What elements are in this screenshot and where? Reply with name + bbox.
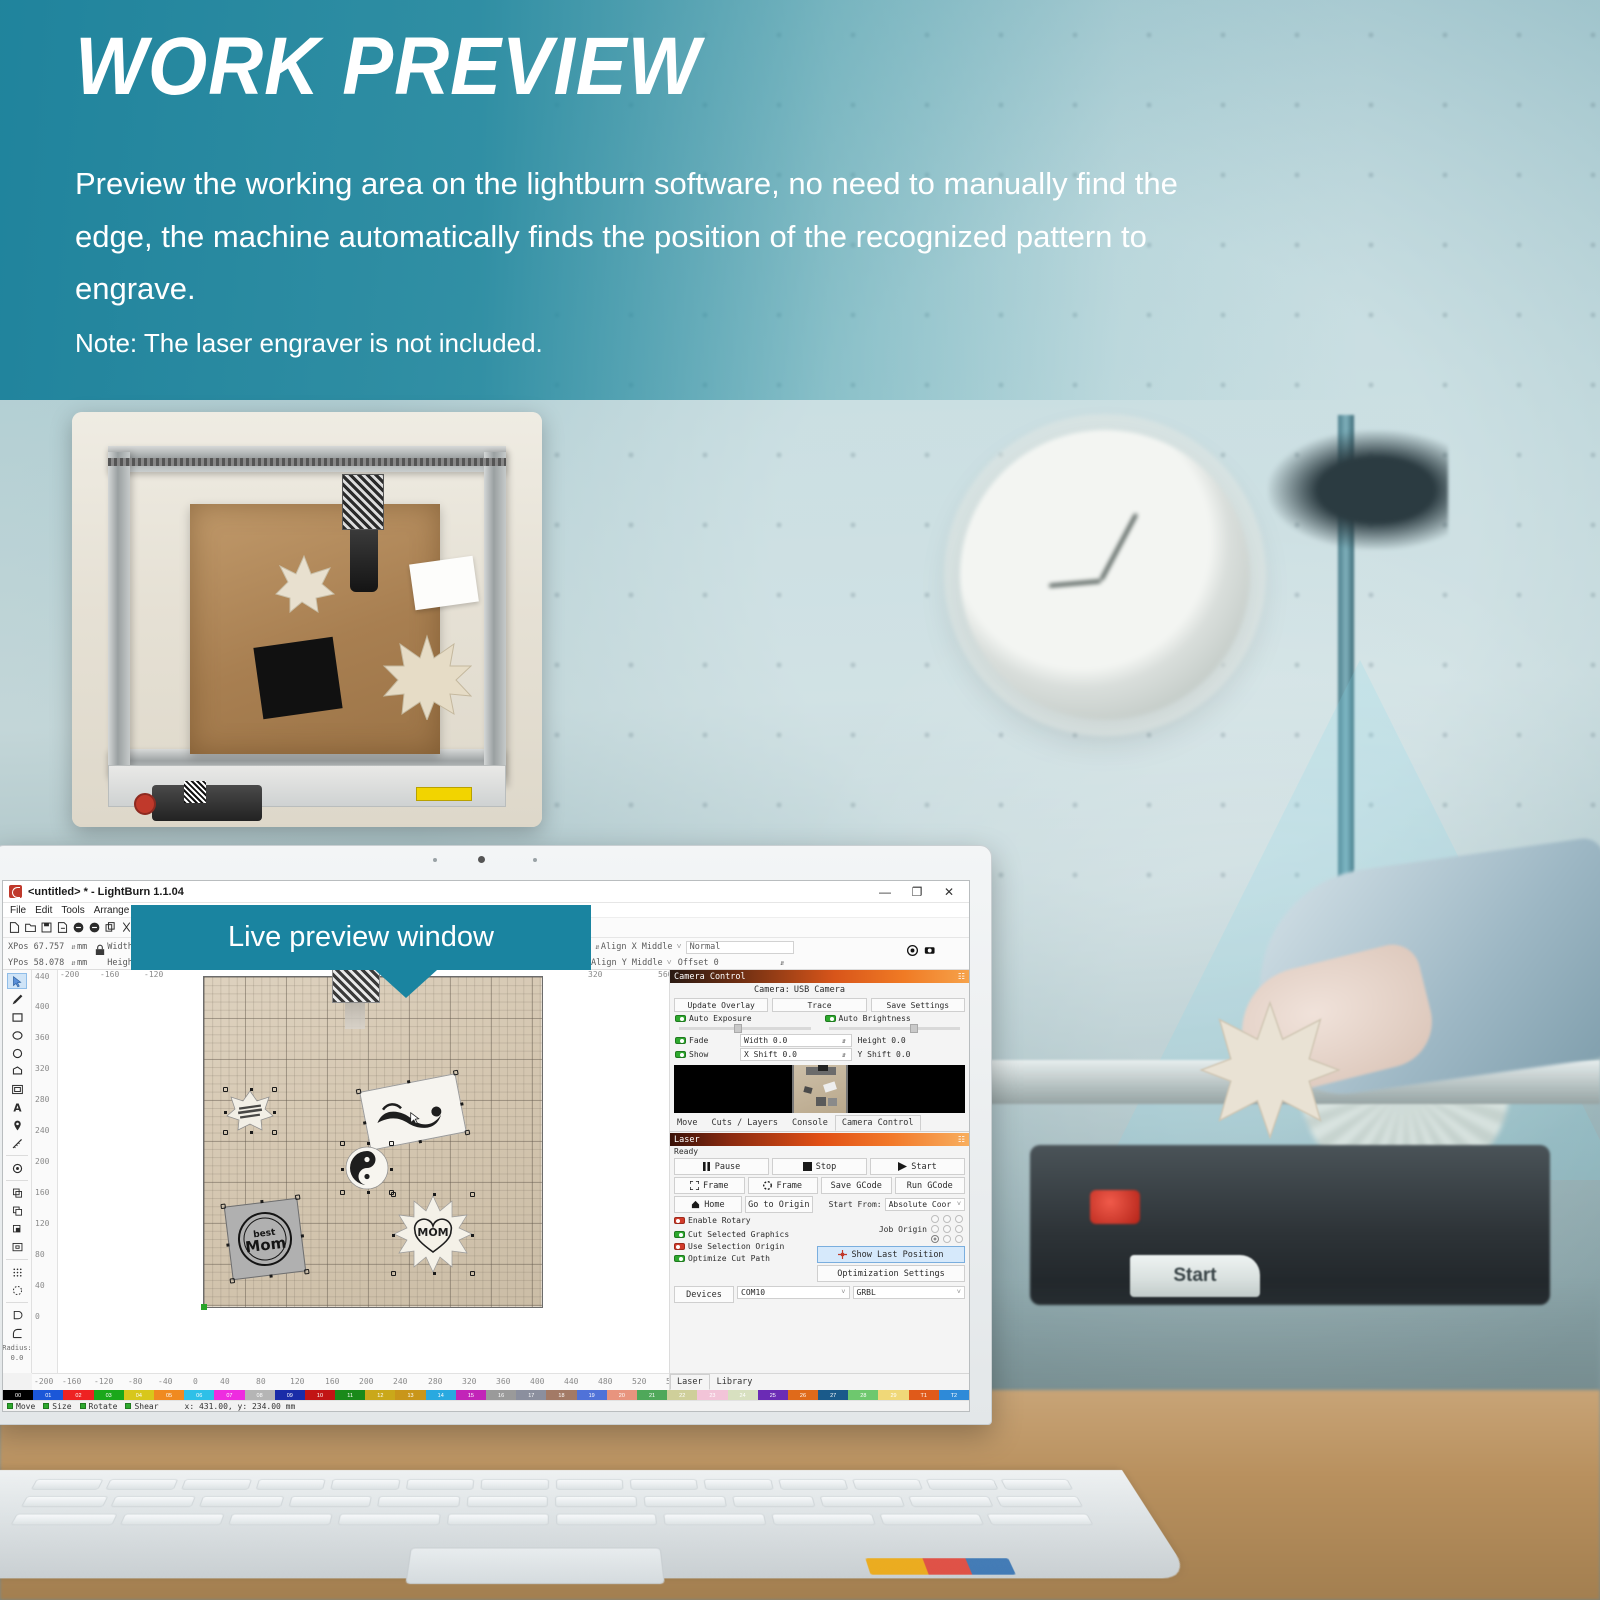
hruler-top-tick: 560	[658, 970, 669, 979]
radius-value[interactable]: 0.0	[11, 1354, 24, 1362]
home-icon	[691, 1200, 700, 1209]
job-origin-cell[interactable]	[931, 1215, 939, 1223]
vruler-tick: 40	[35, 1281, 45, 1290]
vruler-tick: 120	[35, 1219, 49, 1228]
enable-rotary-label: Enable Rotary	[688, 1216, 751, 1225]
laser-head-overlay	[332, 970, 380, 1003]
start-from-select[interactable]: Absolute Coor˅	[885, 1198, 965, 1211]
hruler-tick: 80	[256, 1377, 266, 1386]
vertical-ruler[interactable]: 440 400 360 320 280 240 200 160 120 80 4…	[32, 970, 58, 1373]
camera-control-undock-icon[interactable]: ☷	[958, 972, 965, 981]
devices-button[interactable]: Devices	[674, 1286, 734, 1303]
camera-head	[1268, 430, 1448, 550]
job-origin-cell[interactable]	[955, 1215, 963, 1223]
camera-value[interactable]: USB Camera	[794, 985, 965, 995]
hruler-top-tick: -120	[144, 970, 163, 979]
overlay-xshift-field[interactable]: X Shift 0.0⇵	[740, 1048, 852, 1061]
camera-refresh-icon[interactable]	[906, 944, 919, 957]
save-gcode-button[interactable]: Save GCode	[821, 1177, 892, 1194]
menu-tools[interactable]: Tools	[61, 905, 84, 916]
stop-icon	[803, 1162, 812, 1171]
vruler-tick: 160	[35, 1188, 49, 1197]
hruler-tick: 480	[598, 1377, 612, 1386]
tab-cuts-layers[interactable]: Cuts / Layers	[704, 1115, 785, 1131]
laptop-trackpad	[405, 1548, 665, 1584]
open-file-icon[interactable]	[24, 921, 37, 934]
overlay-width-field[interactable]: Width 0.0⇵	[740, 1034, 852, 1047]
auto-brightness-label: Auto Brightness	[839, 1014, 911, 1023]
boolean-intersect-tool[interactable]	[7, 1221, 27, 1237]
vruler-tick: 240	[35, 1126, 49, 1135]
obj-best-mom-square[interactable]: best Mom	[224, 1198, 306, 1280]
window-title: <untitled> * - LightBurn 1.1.04	[28, 886, 184, 898]
auto-exposure-label: Auto Exposure	[689, 1014, 752, 1023]
tab-move[interactable]: Move	[670, 1115, 704, 1131]
laser-dock-title: Laser ☷	[670, 1133, 969, 1146]
home-label: Home	[704, 1200, 724, 1210]
exposure-slider[interactable]	[675, 1027, 815, 1030]
menu-file[interactable]: File	[10, 905, 26, 916]
fade-toggle[interactable]: Fade	[675, 1036, 737, 1045]
frame-round-icon	[763, 1181, 772, 1190]
tool-palette: A	[3, 970, 32, 1373]
svg-text:A: A	[13, 1102, 22, 1113]
job-origin-cell[interactable]	[955, 1225, 963, 1233]
xpos-field[interactable]: XPos 67.757	[8, 942, 70, 952]
hruler-tick: -40	[158, 1377, 172, 1386]
camera-control-title: Camera Control	[674, 972, 746, 982]
start-from-label: Start From:	[816, 1200, 882, 1209]
text-tool[interactable]: A	[7, 1099, 27, 1115]
job-origin-cell[interactable]	[943, 1215, 951, 1223]
hruler-tick: -80	[128, 1377, 142, 1386]
job-origin-cell[interactable]	[955, 1235, 963, 1243]
photo-laser-nozzle	[350, 530, 378, 592]
job-origin-cell[interactable]	[943, 1225, 951, 1233]
width-label: Width	[107, 942, 133, 952]
overlay-width-value: Width 0.0	[744, 1036, 787, 1045]
obj-burst-tag[interactable]	[226, 1090, 274, 1132]
mouse-cursor-icon	[410, 1112, 420, 1126]
camera-control-dock-title: Camera Control ☷	[670, 970, 969, 983]
optimization-settings-button[interactable]: Optimization Settings	[817, 1265, 965, 1282]
hspace-spinner[interactable]: ⇵	[594, 943, 601, 951]
overlay-yshift-value: Y Shift 0.0	[858, 1050, 911, 1059]
status-coordinates: x: 431.00, y: 234.00 mm	[185, 1402, 296, 1411]
align-x-chevron-icon[interactable]: ˅	[677, 942, 682, 952]
start-label: Start	[911, 1162, 937, 1172]
overlay-yshift-field[interactable]: Y Shift 0.0	[855, 1048, 965, 1061]
hruler-tick: 0	[193, 1377, 198, 1386]
frame-round-label: Frame	[776, 1181, 802, 1191]
hruler-tick: 520	[632, 1377, 646, 1386]
obj-mom-star[interactable]: MOM	[394, 1195, 472, 1273]
trace-button[interactable]: Trace	[772, 998, 866, 1012]
select-tool[interactable]	[7, 973, 27, 989]
hruler-tick: 360	[496, 1377, 510, 1386]
hruler-tick: 280	[428, 1377, 442, 1386]
play-icon	[898, 1162, 907, 1171]
circular-array-tool[interactable]	[7, 1282, 27, 1298]
wood-star-workpiece	[1200, 1000, 1340, 1140]
save-settings-button[interactable]: Save Settings	[871, 998, 965, 1012]
polygon-tool[interactable]	[7, 1063, 27, 1079]
close-button[interactable]: ✕	[933, 881, 965, 903]
grid-array-tool[interactable]	[7, 1264, 27, 1280]
laptop-keyboard	[0, 1470, 1192, 1578]
weld-tool[interactable]	[7, 1307, 27, 1323]
laser-title: Laser	[674, 1135, 700, 1145]
hruler-tick: 160	[325, 1377, 339, 1386]
optimize-cut-path-toggle[interactable]: Optimize Cut Path	[674, 1253, 770, 1264]
node-edit-tool[interactable]	[7, 1117, 27, 1133]
home-button[interactable]: Home	[674, 1196, 742, 1213]
vruler-tick: 80	[35, 1250, 45, 1259]
show-last-position-button[interactable]: Show Last Position	[817, 1246, 965, 1263]
trace-image-tool[interactable]	[7, 1160, 27, 1176]
titlebar: <untitled> * - LightBurn 1.1.04 — ❐ ✕	[3, 881, 969, 903]
hruler-tick: 400	[530, 1377, 544, 1386]
vruler-tick: 360	[35, 1033, 49, 1042]
start-from-value: Absolute Coor	[889, 1200, 952, 1209]
hruler-tick: 120	[290, 1377, 304, 1386]
product-photo	[72, 412, 542, 827]
auto-exposure-toggle[interactable]: Auto Exposure	[675, 1014, 815, 1023]
laser-status: Ready	[670, 1146, 969, 1157]
boolean-union-tool[interactable]	[7, 1185, 27, 1201]
undo-icon[interactable]	[72, 921, 85, 934]
vruler-tick: 320	[35, 1064, 49, 1073]
callout-label: Live preview window	[228, 921, 494, 954]
frame-square-button[interactable]: Frame	[674, 1177, 745, 1194]
camera-label: Camera:	[754, 985, 790, 995]
minimize-button[interactable]: —	[869, 881, 901, 903]
status-rotate[interactable]: Rotate	[80, 1402, 118, 1411]
photo-star-piece	[272, 554, 336, 614]
new-file-icon[interactable]	[8, 921, 21, 934]
origin-marker	[201, 1304, 207, 1310]
hero-note: Note: The laser engraver is not included…	[75, 328, 543, 359]
start-button[interactable]: Start	[870, 1158, 965, 1175]
tab-camera-control[interactable]: Camera Control	[835, 1115, 921, 1131]
pause-label: Pause	[715, 1162, 741, 1172]
pause-button[interactable]: Pause	[674, 1158, 769, 1175]
ypos-unit: mm	[77, 958, 87, 968]
laser-undock-icon[interactable]: ☷	[958, 1135, 965, 1144]
bottom-tab-laser[interactable]: Laser	[670, 1374, 710, 1390]
enable-rotary-toggle[interactable]: Enable Rotary	[674, 1215, 751, 1226]
offset-spinner[interactable]: ⇵	[779, 959, 786, 967]
port-value: COM10	[741, 1288, 765, 1297]
laser-head-stem	[345, 1003, 365, 1029]
frame-square-icon	[690, 1181, 699, 1190]
vruler-tick: 0	[35, 1312, 40, 1321]
lightburn-app-icon	[9, 885, 22, 898]
camera-preview-image	[792, 1065, 848, 1113]
status-bar: Move Size Rotate Shear x: 431.00, y: 234…	[3, 1400, 969, 1411]
photo-sunburst-piece	[382, 634, 472, 720]
frame-square-label: Frame	[703, 1181, 729, 1191]
show-label: Show	[689, 1050, 708, 1059]
pause-icon	[703, 1162, 711, 1171]
photo-white-card	[409, 556, 479, 610]
overlay-height-value: Height 0.0	[858, 1036, 906, 1045]
hruler-tick: -160	[62, 1377, 81, 1386]
boolean-xor-tool[interactable]	[7, 1239, 27, 1255]
crosshair-icon	[838, 1250, 847, 1259]
photo-laser-head	[342, 474, 384, 530]
hero-paragraph: Preview the working area on the lightbur…	[75, 158, 1195, 316]
align-x-select[interactable]: Align X Middle	[601, 942, 673, 952]
hruler-tick: 240	[393, 1377, 407, 1386]
status-size[interactable]: Size	[43, 1402, 71, 1411]
laptop-webcam-icon	[478, 856, 485, 863]
pen-tool[interactable]	[7, 991, 27, 1007]
job-origin-cell[interactable]	[943, 1235, 951, 1243]
firmware-value: GRBL	[857, 1288, 876, 1297]
mode-select[interactable]: Normal	[686, 941, 794, 954]
hruler-top-tick: -160	[100, 970, 119, 979]
laptop-sticker	[865, 1558, 1016, 1574]
menu-arrange[interactable]: Arrange	[94, 905, 130, 916]
copy-icon[interactable]	[104, 921, 117, 934]
align-y-chevron-icon[interactable]: ˅	[667, 958, 672, 968]
hruler-tick: 200	[359, 1377, 373, 1386]
save-icon[interactable]	[40, 921, 53, 934]
measure-tool[interactable]	[7, 1135, 27, 1151]
dock-tab-row: Move Cuts / Layers Console Camera Contro…	[670, 1115, 969, 1132]
page-title: WORK PREVIEW	[75, 24, 700, 110]
callout-tail	[375, 970, 437, 998]
update-overlay-button[interactable]: Update Overlay	[674, 998, 768, 1012]
bottom-dock-tabs: Laser Library	[670, 1373, 969, 1390]
svg-text:MOM: MOM	[417, 1226, 448, 1239]
lock-aspect-icon[interactable]	[95, 944, 105, 956]
go-to-origin-button[interactable]: Go to Origin	[745, 1196, 813, 1213]
hruler-tick: -120	[94, 1377, 113, 1386]
circle-tool[interactable]	[7, 1045, 27, 1061]
ypos-spinner[interactable]: ⇵	[70, 959, 77, 967]
vruler-tick: 440	[35, 972, 49, 981]
cut-selected-label: Cut Selected Graphics	[688, 1230, 789, 1239]
tab-console[interactable]: Console	[785, 1115, 835, 1131]
radius-label: Radius:	[2, 1344, 32, 1352]
obj-yin-yang-disc[interactable]	[344, 1145, 390, 1191]
overlay-xshift-value: X Shift 0.0	[744, 1050, 797, 1059]
use-selection-origin-label: Use Selection Origin	[688, 1242, 784, 1251]
work-area[interactable]: best Mom MOM	[203, 976, 543, 1308]
hruler-tick: 40	[220, 1377, 230, 1386]
xpos-spinner[interactable]: ⇵	[70, 943, 77, 951]
cut-selected-toggle[interactable]: Cut Selected Graphics	[674, 1227, 789, 1240]
job-origin-cell[interactable]	[931, 1225, 939, 1233]
show-last-position-label: Show Last Position	[851, 1250, 943, 1260]
offset-field[interactable]: Offset 0	[678, 958, 719, 968]
camera-preview[interactable]	[674, 1065, 965, 1113]
status-shear[interactable]: Shear	[125, 1402, 158, 1411]
design-canvas[interactable]: -200 -160 -120 320 560	[58, 970, 669, 1373]
use-selection-origin-toggle[interactable]: Use Selection Origin	[674, 1241, 784, 1252]
horizontal-ruler[interactable]: -200 -160 -120 -80 -40 0 40 80 120 160 2…	[32, 1373, 669, 1390]
frame-round-button[interactable]: Frame	[748, 1177, 819, 1194]
photo-controller	[152, 785, 262, 821]
ellipse-tool[interactable]	[7, 1027, 27, 1043]
boolean-subtract-tool[interactable]	[7, 1203, 27, 1219]
camera-capture-icon[interactable]	[924, 944, 937, 957]
bottom-tab-library[interactable]: Library	[710, 1374, 760, 1390]
hruler-tick: -200	[34, 1377, 53, 1386]
align-y-select[interactable]: Align Y Middle	[591, 958, 663, 968]
port-select[interactable]: COM10˅	[737, 1286, 850, 1299]
status-move[interactable]: Move	[7, 1402, 35, 1411]
radius-tool[interactable]	[7, 1325, 27, 1341]
photo-black-card	[253, 637, 342, 719]
vruler-tick: 200	[35, 1157, 49, 1166]
stop-button[interactable]: Stop	[772, 1158, 867, 1175]
hruler-top-tick: 320	[588, 970, 602, 979]
show-toggle[interactable]: Show	[675, 1050, 737, 1059]
xpos-unit: mm	[77, 942, 87, 952]
brightness-slider[interactable]	[825, 1027, 965, 1030]
hruler-tick: 440	[564, 1377, 578, 1386]
overlay-height-field[interactable]: Height 0.0	[855, 1034, 965, 1047]
export-icon[interactable]	[56, 921, 69, 934]
rectangle-tool[interactable]	[7, 1009, 27, 1025]
firmware-select[interactable]: GRBL˅	[853, 1286, 966, 1299]
callout-banner: Live preview window	[131, 905, 591, 970]
vruler-tick: 280	[35, 1095, 49, 1104]
job-origin-label: Job Origin	[879, 1225, 927, 1234]
hruler-tick: 320	[462, 1377, 476, 1386]
auto-brightness-toggle[interactable]: Auto Brightness	[825, 1014, 965, 1023]
redo-icon[interactable]	[88, 921, 101, 934]
ypos-field[interactable]: YPos 58.078	[8, 958, 70, 968]
hruler-top-tick: -200	[60, 970, 79, 979]
fade-label: Fade	[689, 1036, 708, 1045]
menu-edit[interactable]: Edit	[35, 905, 52, 916]
vruler-tick: 400	[35, 1002, 49, 1011]
maximize-button[interactable]: ❐	[901, 881, 933, 903]
optimize-cut-path-label: Optimize Cut Path	[688, 1254, 770, 1263]
job-origin-cell-selected[interactable]	[931, 1235, 939, 1243]
offset-shape-tool[interactable]	[7, 1081, 27, 1097]
right-dock: Camera Control ☷ Camera: USB Camera Upda…	[669, 970, 969, 1390]
job-origin-grid[interactable]	[931, 1215, 965, 1243]
run-gcode-button[interactable]: Run GCode	[895, 1177, 966, 1194]
stop-label: Stop	[816, 1162, 836, 1172]
